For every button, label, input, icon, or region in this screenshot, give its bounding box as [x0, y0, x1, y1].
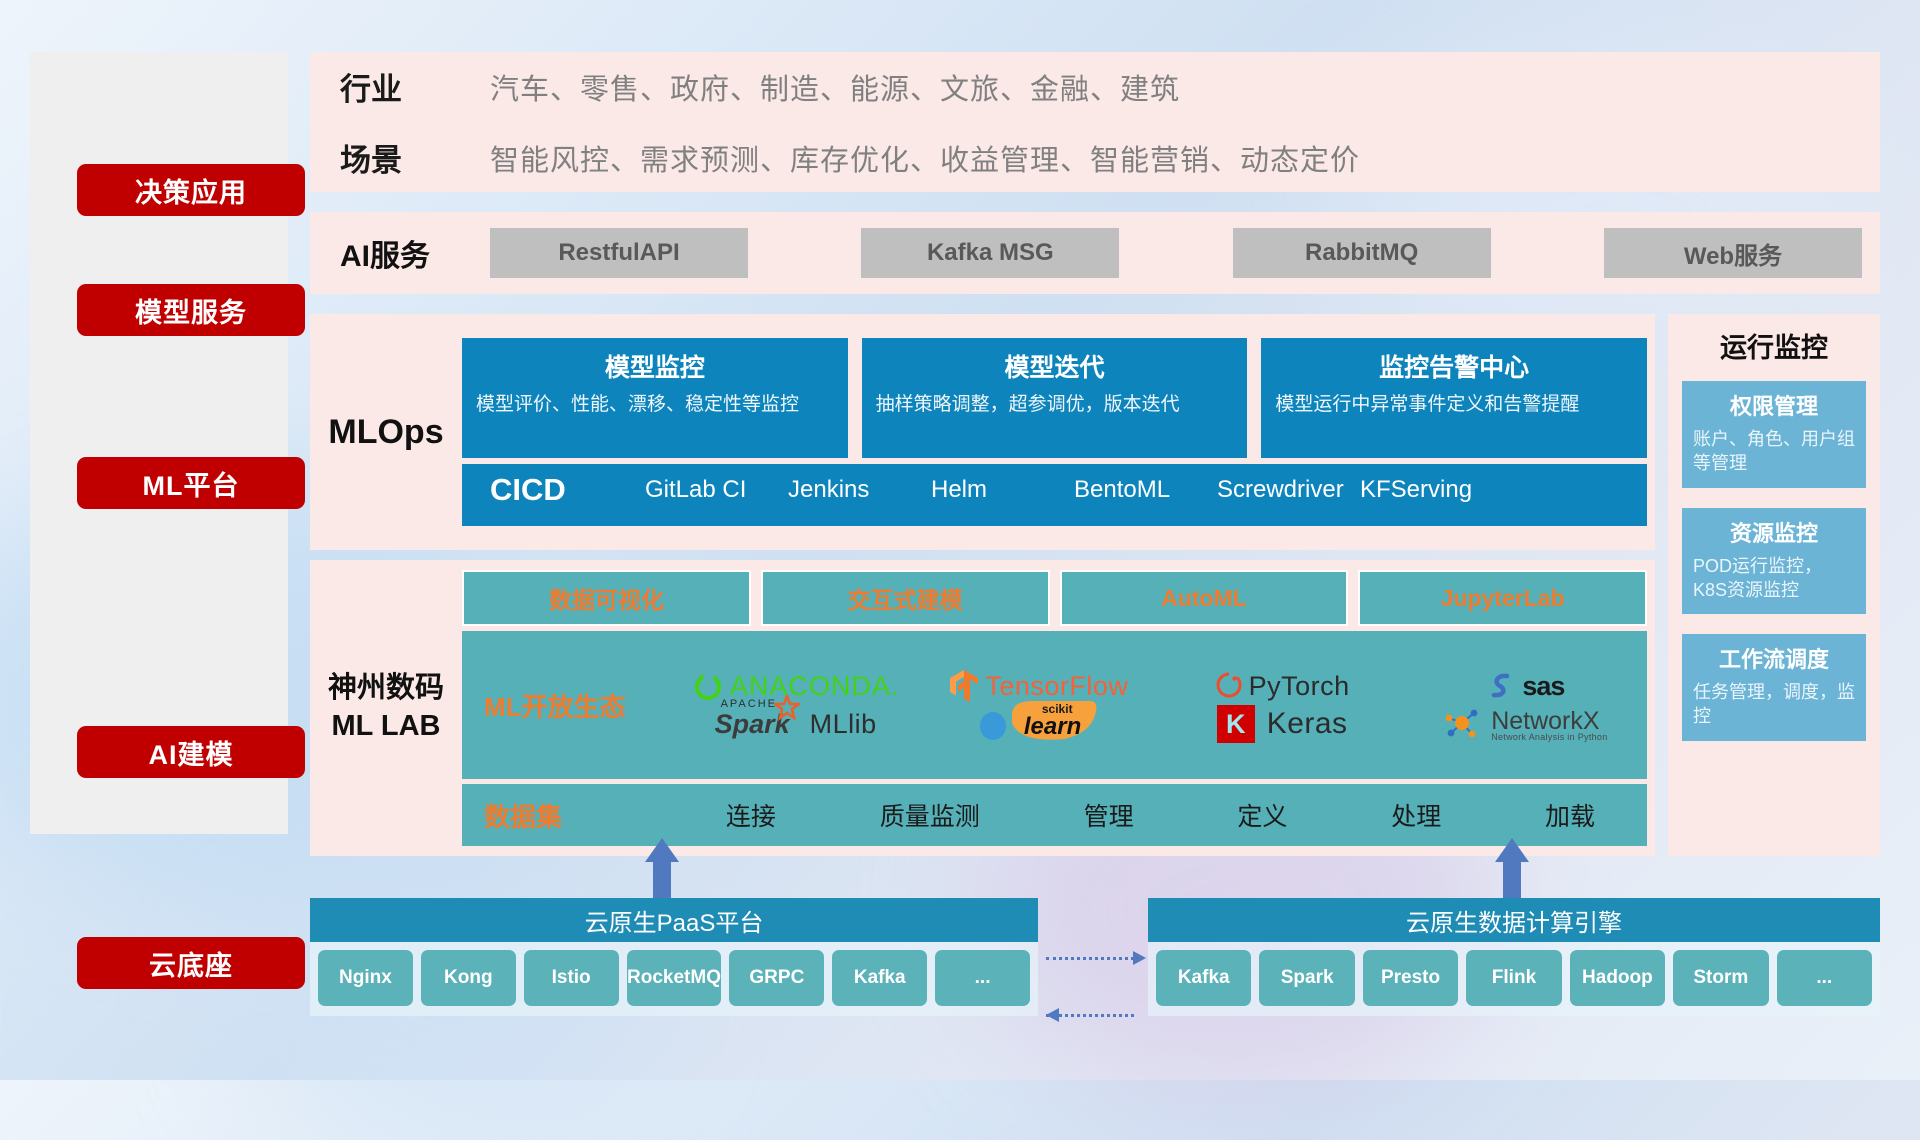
- ai-chip-label: RabbitMQ: [1305, 239, 1418, 267]
- card-title: 监控告警中心: [1275, 348, 1633, 384]
- engine-chip-hadoop[interactable]: Hadoop: [1570, 950, 1665, 1006]
- rail-item-ml-platform[interactable]: ML平台: [77, 457, 305, 509]
- tab-interactive-modeling[interactable]: 交互式建模: [761, 570, 1050, 626]
- runtime-monitoring-title: 运行监控: [1682, 326, 1866, 365]
- layer-rail: 决策应用 模型服务 ML平台 AI建模: [30, 52, 288, 834]
- cicd-item-helm[interactable]: Helm: [931, 472, 1074, 504]
- architecture-diagram: 决策应用 模型服务 ML平台 AI建模 云底座 行业 汽车、零售、政府、制造、能…: [0, 0, 1920, 1080]
- learn-text: learn: [1024, 713, 1081, 741]
- mllib-wordmark: MLlib: [810, 709, 877, 740]
- mlops-panel: MLOps 模型监控 模型评价、性能、漂移、稳定性等监控 模型迭代 抽样策略调整…: [310, 314, 1655, 550]
- card-title: 模型迭代: [876, 348, 1234, 384]
- paas-chip-kong[interactable]: Kong: [421, 950, 516, 1006]
- ml-ecosystem-title: ML开放生态: [484, 687, 674, 724]
- card-desc: 任务管理，调度，监控: [1693, 680, 1855, 729]
- mlops-label: MLOps: [310, 413, 462, 452]
- rail-label: ML平台: [143, 464, 240, 503]
- scenario-label: 场景: [340, 135, 490, 180]
- scikit-blue-blob-icon: [978, 706, 1012, 742]
- right-card-resource-monitoring[interactable]: 资源监控 POD运行监控，K8S资源监控: [1682, 508, 1866, 615]
- arrow-up-data-engine-icon: [1495, 838, 1529, 906]
- rail-label: 决策应用: [135, 171, 247, 210]
- engine-chip-flink[interactable]: Flink: [1466, 950, 1561, 1006]
- ml-lab-label-line2: ML LAB: [310, 708, 462, 746]
- ai-chip-rabbitmq[interactable]: RabbitMQ: [1233, 228, 1491, 278]
- sas-mark-icon: [1486, 671, 1516, 701]
- sas-logo: sas: [1486, 671, 1564, 702]
- ai-chip-label: Kafka MSG: [927, 239, 1054, 267]
- spark-star-icon: [774, 695, 800, 721]
- cicd-item-gitlab-ci[interactable]: GitLab CI: [645, 472, 788, 504]
- industry-value: 汽车、零售、政府、制造、能源、文旅、金融、建筑: [490, 66, 1180, 108]
- rail-label: AI建模: [149, 733, 234, 772]
- paas-chip-grpc[interactable]: GRPC: [729, 950, 824, 1006]
- card-desc: 模型评价、性能、漂移、稳定性等监控: [476, 392, 834, 418]
- industry-label: 行业: [340, 64, 490, 109]
- tensorflow-wordmark: TensorFlow: [985, 671, 1128, 702]
- ai-service-items: RestfulAPI Kafka MSG RabbitMQ Web服务: [490, 228, 1880, 278]
- right-card-workflow-scheduling[interactable]: 工作流调度 任务管理，调度，监控: [1682, 634, 1866, 741]
- ai-chip-label: Web服务: [1684, 236, 1782, 271]
- scikit-learn-logo: scikit learn: [978, 705, 1100, 743]
- pytorch-wordmark: PyTorch: [1249, 671, 1350, 702]
- networkx-logo: NetworkX Network Analysis in Python: [1443, 706, 1607, 742]
- mlops-card-model-monitoring[interactable]: 模型监控 模型评价、性能、漂移、稳定性等监控: [462, 338, 848, 458]
- card-title: 权限管理: [1693, 389, 1855, 421]
- dataset-item-quality-monitor[interactable]: 质量监测: [880, 797, 980, 833]
- card-desc: 模型运行中异常事件定义和告警提醒: [1275, 392, 1633, 418]
- runtime-monitoring-panel: 运行监控 权限管理 账户、角色、用户组等管理 资源监控 POD运行监控，K8S资…: [1668, 314, 1880, 856]
- dataset-item-load[interactable]: 加载: [1545, 797, 1595, 833]
- rail-item-decision-app[interactable]: 决策应用: [77, 164, 305, 216]
- ml-lab-label: 神州数码 ML LAB: [310, 670, 462, 745]
- tab-automl[interactable]: AutoML: [1060, 570, 1349, 626]
- cicd-item-screwdriver[interactable]: Screwdriver: [1217, 472, 1360, 504]
- tensorflow-mark-icon: [949, 669, 979, 703]
- engine-chip-more[interactable]: ...: [1777, 950, 1872, 1006]
- dataset-item-define[interactable]: 定义: [1237, 797, 1287, 833]
- ml-ecosystem-row: ML开放生态 ANACONDA.: [462, 631, 1647, 779]
- card-title: 工作流调度: [1693, 642, 1855, 674]
- cicd-item-bentoml[interactable]: BentoML: [1074, 472, 1217, 504]
- tensorflow-logo: TensorFlow: [949, 669, 1128, 703]
- rail-item-cloud-base[interactable]: 云底座: [77, 937, 305, 989]
- rail-label: 模型服务: [135, 291, 247, 330]
- networkx-mark-icon: [1443, 706, 1481, 742]
- keras-k-letter: K: [1226, 709, 1246, 740]
- dataset-item-process[interactable]: 处理: [1391, 797, 1441, 833]
- engine-chip-spark[interactable]: Spark: [1259, 950, 1354, 1006]
- engine-chip-kafka[interactable]: Kafka: [1156, 950, 1251, 1006]
- paas-chip-rocketmq[interactable]: RocketMQ: [627, 950, 722, 1006]
- paas-chip-istio[interactable]: Istio: [524, 950, 619, 1006]
- ai-service-panel: AI服务 RestfulAPI Kafka MSG RabbitMQ Web服务: [310, 212, 1880, 294]
- ai-chip-restfulapi[interactable]: RestfulAPI: [490, 228, 748, 278]
- pytorch-mark-icon: [1215, 670, 1243, 702]
- card-desc: 抽样策略调整，超参调优，版本迭代: [876, 392, 1234, 418]
- keras-mark-icon: K: [1217, 705, 1255, 743]
- paas-chip-nginx[interactable]: Nginx: [318, 950, 413, 1006]
- paas-chip-kafka[interactable]: Kafka: [832, 950, 927, 1006]
- mlops-card-alert-center[interactable]: 监控告警中心 模型运行中异常事件定义和告警提醒: [1261, 338, 1647, 458]
- cloud-paas-title: 云原生PaaS平台: [310, 898, 1038, 942]
- cicd-item-jenkins[interactable]: Jenkins: [788, 472, 931, 504]
- spark-mllib-logo: APACHE Spark MLlib: [715, 709, 877, 740]
- dataset-item-manage[interactable]: 管理: [1084, 797, 1134, 833]
- ai-chip-label: RestfulAPI: [558, 239, 679, 267]
- cloud-data-engine-title: 云原生数据计算引擎: [1148, 898, 1880, 942]
- ai-modeling-panel: 神州数码 ML LAB 数据可视化 交互式建模 AutoML JupyterLa…: [310, 560, 1655, 856]
- rail-item-ai-modeling[interactable]: AI建模: [77, 726, 305, 778]
- paas-chip-more[interactable]: ...: [935, 950, 1030, 1006]
- card-title: 资源监控: [1693, 516, 1855, 548]
- spark-apache-text: APACHE: [721, 698, 777, 710]
- industry-scenario-panel: 行业 汽车、零售、政府、制造、能源、文旅、金融、建筑 场景 智能风控、需求预测、…: [310, 52, 1880, 192]
- rail-item-model-service[interactable]: 模型服务: [77, 284, 305, 336]
- card-desc: POD运行监控，K8S资源监控: [1693, 554, 1855, 603]
- scenario-row: 场景 智能风控、需求预测、库存优化、收益管理、智能营销、动态定价: [340, 135, 1360, 180]
- cloud-native-paas-group: 云原生PaaS平台 Nginx Kong Istio RocketMQ GRPC…: [310, 898, 1038, 1016]
- engine-chip-storm[interactable]: Storm: [1673, 950, 1768, 1006]
- cicd-bar: CICD GitLab CI Jenkins Helm BentoML Scre…: [462, 464, 1647, 526]
- dashed-arrow-left-icon: [1046, 1014, 1146, 1016]
- dataset-item-connect[interactable]: 连接: [726, 797, 776, 833]
- ml-lab-label-line1: 神州数码: [310, 670, 462, 708]
- card-desc: 账户、角色、用户组等管理: [1693, 427, 1855, 476]
- ai-service-label: AI服务: [340, 231, 490, 275]
- mlops-card-model-iteration[interactable]: 模型迭代 抽样策略调整，超参调优，版本迭代: [862, 338, 1248, 458]
- tab-data-visualization[interactable]: 数据可视化: [462, 570, 751, 626]
- keras-wordmark: Keras: [1267, 707, 1348, 741]
- scenario-value: 智能风控、需求预测、库存优化、收益管理、智能营销、动态定价: [490, 137, 1360, 179]
- ai-chip-kafka-msg[interactable]: Kafka MSG: [861, 228, 1119, 278]
- anaconda-mark-icon: [692, 670, 724, 702]
- pytorch-logo: PyTorch: [1215, 670, 1350, 702]
- tab-jupyterlab[interactable]: JupyterLab: [1358, 570, 1647, 626]
- engine-chip-presto[interactable]: Presto: [1363, 950, 1458, 1006]
- ai-chip-web-service[interactable]: Web服务: [1604, 228, 1862, 278]
- sas-wordmark: sas: [1522, 671, 1564, 702]
- industry-row: 行业 汽车、零售、政府、制造、能源、文旅、金融、建筑: [340, 64, 1360, 109]
- right-card-permission-management[interactable]: 权限管理 账户、角色、用户组等管理: [1682, 381, 1866, 488]
- cicd-item-kfserving[interactable]: KFServing: [1360, 472, 1503, 504]
- rail-label: 云底座: [149, 944, 233, 983]
- modeling-tabs: 数据可视化 交互式建模 AutoML JupyterLab: [462, 570, 1647, 626]
- networkx-tagline: Network Analysis in Python: [1491, 732, 1607, 742]
- arrow-up-paas-icon: [645, 838, 679, 906]
- dataset-title: 数据集: [484, 797, 674, 834]
- cloud-native-data-engine-group: 云原生数据计算引擎 Kafka Spark Presto Flink Hadoo…: [1148, 898, 1880, 1016]
- cicd-title: CICD: [490, 472, 645, 508]
- card-title: 模型监控: [476, 348, 834, 384]
- keras-logo: K Keras: [1217, 705, 1348, 743]
- dataset-row: 数据集 连接 质量监测 管理 定义 处理 加载: [462, 784, 1647, 846]
- dashed-arrow-right-icon: [1046, 957, 1146, 959]
